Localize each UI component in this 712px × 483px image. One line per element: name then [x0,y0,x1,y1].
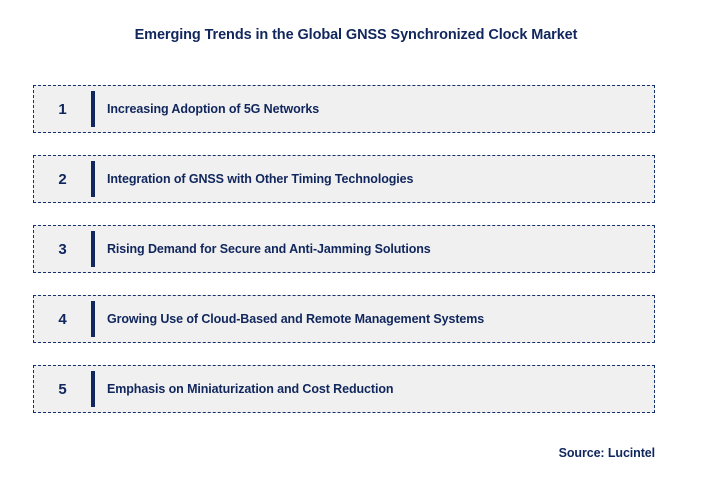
trend-list: 1 Increasing Adoption of 5G Networks 2 I… [33,85,655,413]
trend-number-4: 4 [34,312,91,327]
source-attribution: Source: Lucintel [33,446,655,460]
trend-label-5: Emphasis on Miniaturization and Cost Red… [95,382,654,396]
trend-item-3: 3 Rising Demand for Secure and Anti-Jamm… [33,225,655,273]
trend-item-1: 1 Increasing Adoption of 5G Networks [33,85,655,133]
trend-item-2: 2 Integration of GNSS with Other Timing … [33,155,655,203]
trend-item-5: 5 Emphasis on Miniaturization and Cost R… [33,365,655,413]
trend-label-1: Increasing Adoption of 5G Networks [95,102,654,116]
trend-number-5: 5 [34,382,91,397]
trend-label-4: Growing Use of Cloud-Based and Remote Ma… [95,312,654,326]
trend-item-4: 4 Growing Use of Cloud-Based and Remote … [33,295,655,343]
trend-label-2: Integration of GNSS with Other Timing Te… [95,172,654,186]
emerging-trends-infographic: Emerging Trends in the Global GNSS Synch… [0,0,712,483]
trend-label-3: Rising Demand for Secure and Anti-Jammin… [95,242,654,256]
trend-number-1: 1 [34,102,91,117]
trend-number-3: 3 [34,242,91,257]
page-title: Emerging Trends in the Global GNSS Synch… [0,27,712,43]
trend-number-2: 2 [34,172,91,187]
